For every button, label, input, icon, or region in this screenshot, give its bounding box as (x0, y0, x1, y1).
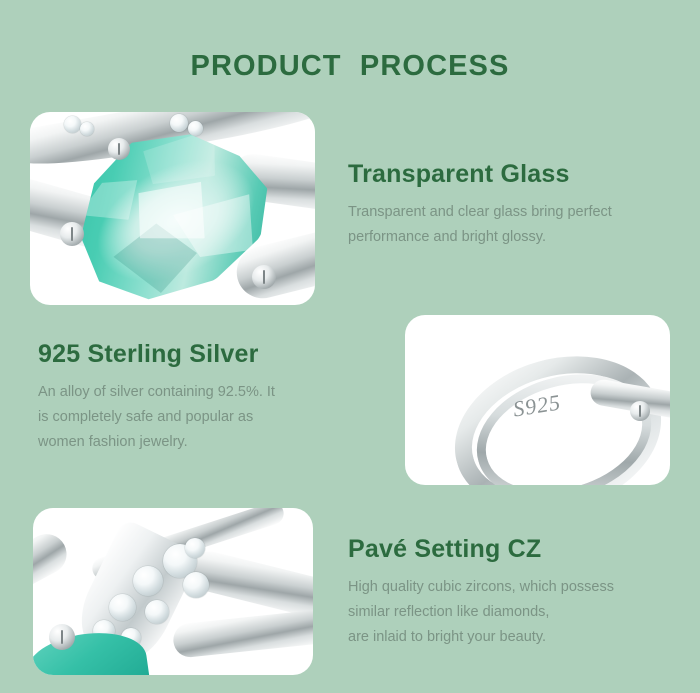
body-line: Transparent and clear glass bring perfec… (348, 200, 678, 225)
body-line: High quality cubic zircons, which posses… (348, 575, 678, 600)
section-body-glass: Transparent and clear glass bring perfec… (348, 200, 678, 250)
accent-stone (64, 116, 81, 133)
pave-stone (109, 594, 136, 621)
body-line: An alloy of silver containing 92.5%. It (38, 380, 338, 405)
body-line: are inlaid to bright your beauty. (348, 625, 678, 650)
prong-right (630, 401, 650, 421)
body-line: is completely safe and popular as (38, 405, 338, 430)
silver-photo-art: S925 (405, 315, 670, 485)
section-heading-silver: 925 Sterling Silver (38, 340, 338, 369)
section-heading-pave: Pavé Setting CZ (348, 535, 678, 564)
body-line: performance and bright glossy. (348, 225, 678, 250)
prong-bottom-right (252, 265, 276, 289)
pave-stone (133, 566, 163, 596)
pave-stone (145, 600, 169, 624)
text-block-pave-setting: Pavé Setting CZ High quality cubic zirco… (348, 535, 678, 650)
ring-band-left-edge (33, 527, 74, 601)
section-body-pave: High quality cubic zircons, which posses… (348, 575, 678, 650)
prong-top (108, 138, 130, 160)
section-heading-glass: Transparent Glass (348, 160, 678, 189)
body-line: similar reflection like diamonds, (348, 600, 678, 625)
prong-left-lower (49, 624, 75, 650)
text-block-transparent-glass: Transparent Glass Transparent and clear … (348, 160, 678, 250)
pave-stone (185, 538, 205, 558)
prong-left (60, 222, 84, 246)
glass-photo-art (30, 112, 315, 305)
body-line: women fashion jewelry. (38, 430, 338, 455)
accent-stone (80, 122, 94, 136)
product-image-sterling-silver: S925 (405, 315, 670, 485)
section-body-silver: An alloy of silver containing 92.5%. It … (38, 380, 338, 455)
product-process-infographic: PRODUCT PROCESS (0, 0, 700, 693)
product-image-transparent-glass (30, 112, 315, 305)
pave-stone (183, 572, 209, 598)
pave-photo-art (33, 508, 313, 675)
page-title: PRODUCT PROCESS (0, 50, 700, 83)
ring-band-lower-sweep (172, 607, 313, 659)
text-block-sterling-silver: 925 Sterling Silver An alloy of silver c… (38, 340, 338, 455)
product-image-pave-setting (33, 508, 313, 675)
